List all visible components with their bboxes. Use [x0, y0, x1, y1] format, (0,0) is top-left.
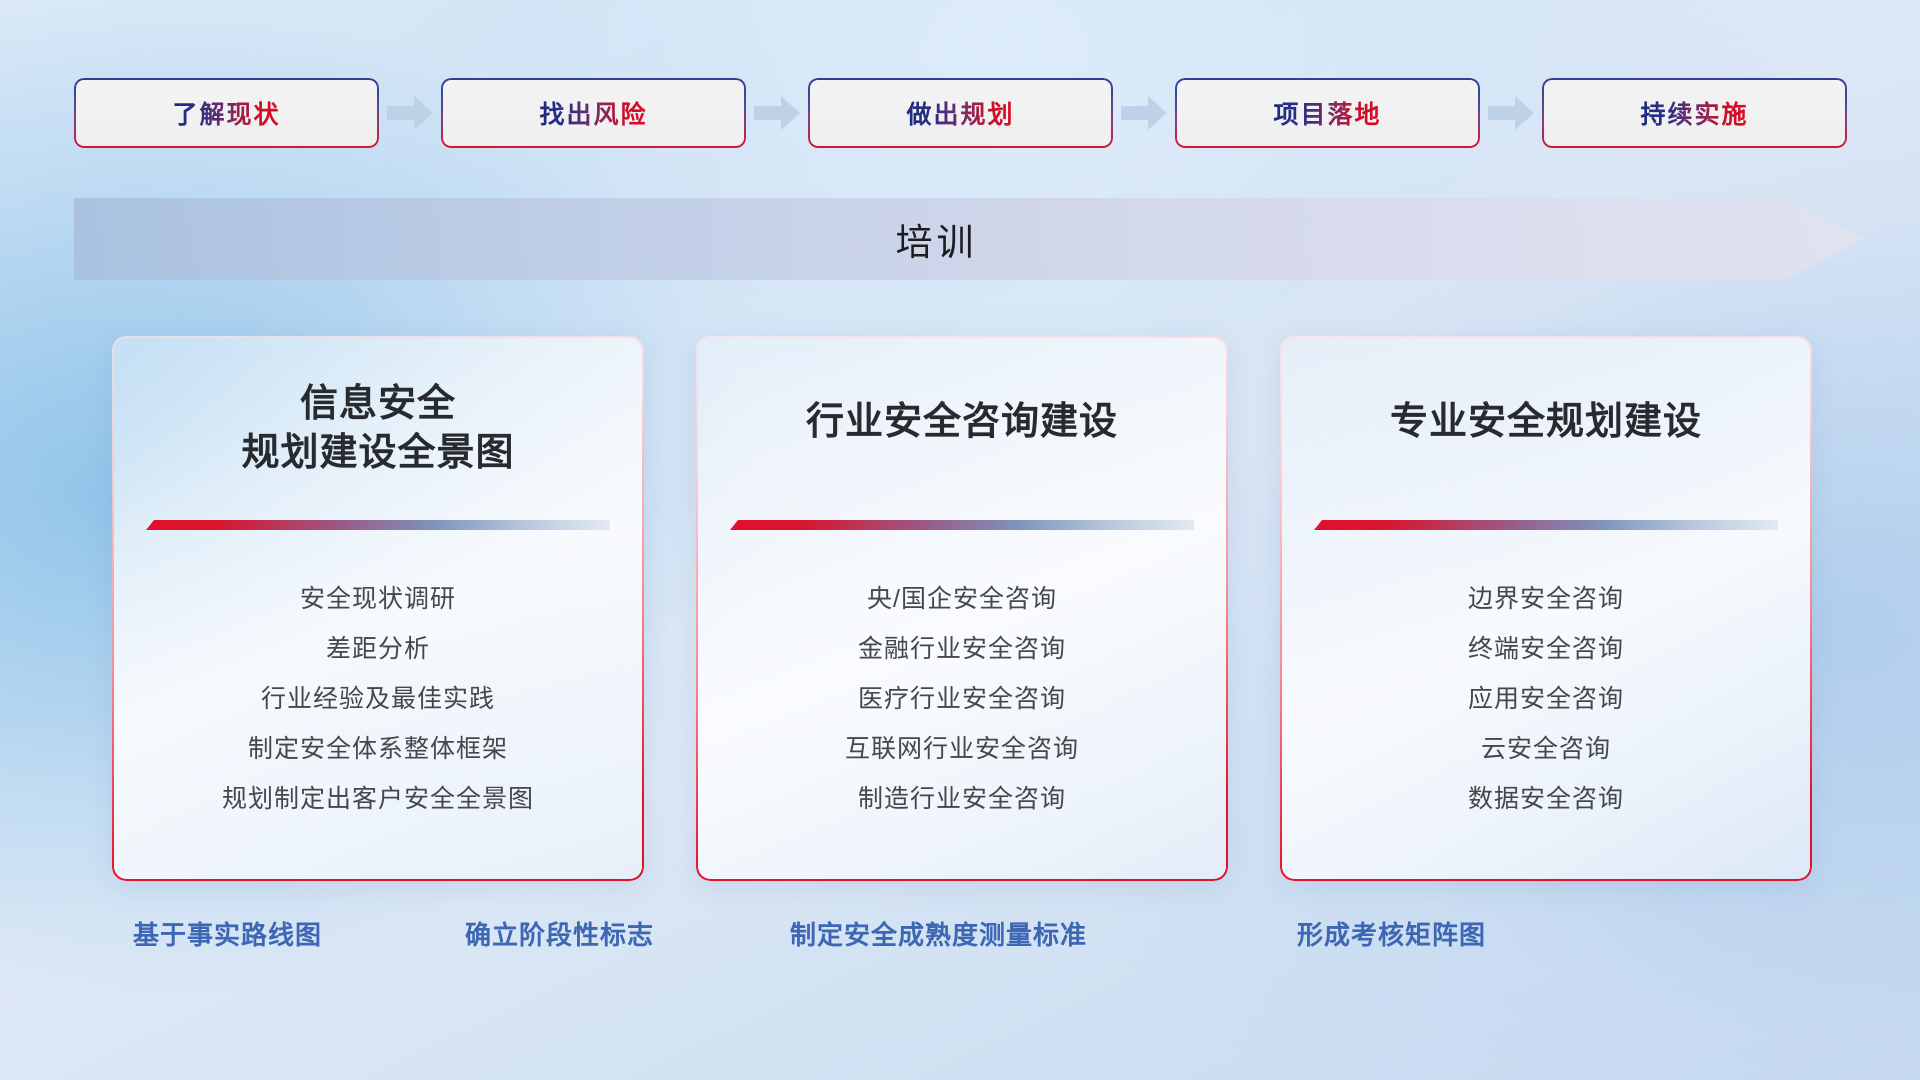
arrow-right-icon — [1480, 78, 1542, 148]
card-divider — [1314, 520, 1778, 533]
list-item: 行业经验及最佳实践 — [261, 674, 495, 724]
arrow-right-icon — [379, 78, 441, 148]
card-title-line: 规划建设全景图 — [241, 429, 514, 478]
caption-row: 基于事实路线图 确立阶段性标志 制定安全成熟度测量标准 形成考核矩阵图 — [0, 915, 1920, 965]
flow-step-label: 项目落地 — [1273, 95, 1381, 131]
caption-1: 确立阶段性标志 — [465, 915, 654, 952]
card-information-security-blueprint[interactable]: 信息安全 规划建设全景图 — [112, 336, 644, 881]
card-title-line: 行业安全咨询建设 — [806, 398, 1118, 447]
card-item-list: 安全现状调研 差距分析 行业经验及最佳实践 制定安全体系整体框架 规划制定出客户… — [112, 574, 644, 824]
card-divider — [730, 520, 1194, 533]
card-title-line: 信息安全 — [241, 380, 514, 429]
arrow-right-icon — [1113, 78, 1175, 148]
card-item-list: 边界安全咨询 终端安全咨询 应用安全咨询 云安全咨询 数据安全咨询 — [1280, 574, 1812, 824]
list-item: 应用安全咨询 — [1468, 674, 1624, 724]
list-item: 医疗行业安全咨询 — [858, 674, 1066, 724]
card-professional-security-planning[interactable]: 专业安全规划建设 — [1280, 336, 1812, 881]
caption-0: 基于事实路线图 — [133, 915, 322, 952]
flow-step-4[interactable]: 持续实施 — [1542, 78, 1847, 148]
list-item: 制定安全体系整体框架 — [248, 724, 508, 774]
card-item-list: 央/国企安全咨询 金融行业安全咨询 医疗行业安全咨询 互联网行业安全咨询 制造行… — [696, 574, 1228, 824]
list-item: 规划制定出客户安全全景图 — [222, 774, 534, 824]
card-title: 专业安全规划建设 — [1390, 398, 1702, 447]
training-banner: 培训 — [74, 198, 1864, 280]
list-item: 云安全咨询 — [1481, 724, 1611, 774]
flow-step-3[interactable]: 项目落地 — [1175, 78, 1480, 148]
list-item: 制造行业安全咨询 — [858, 774, 1066, 824]
card-title: 信息安全 规划建设全景图 — [241, 380, 514, 477]
list-item: 央/国企安全咨询 — [867, 574, 1057, 624]
caption-2: 制定安全成熟度测量标准 — [790, 915, 1087, 952]
card-industry-security-consulting[interactable]: 行业安全咨询建设 — [696, 336, 1228, 881]
flow-step-1[interactable]: 找出风险 — [441, 78, 746, 148]
list-item: 终端安全咨询 — [1468, 624, 1624, 674]
flow-step-0[interactable]: 了解现状 — [74, 78, 379, 148]
list-item: 安全现状调研 — [300, 574, 456, 624]
list-item: 金融行业安全咨询 — [858, 624, 1066, 674]
flow-step-label: 持续实施 — [1640, 95, 1748, 131]
list-item: 数据安全咨询 — [1468, 774, 1624, 824]
arrow-right-icon — [746, 78, 808, 148]
flow-step-label: 了解现状 — [172, 95, 280, 131]
caption-3: 形成考核矩阵图 — [1297, 915, 1486, 952]
process-flow-row: 了解现状 找出风险 做出规划 项目落地 持续实施 — [74, 78, 1846, 148]
card-title: 行业安全咨询建设 — [806, 398, 1118, 447]
flow-step-label: 找出风险 — [539, 95, 647, 131]
card-divider — [146, 520, 610, 533]
card-title-line: 专业安全规划建设 — [1390, 398, 1702, 447]
flow-step-2[interactable]: 做出规划 — [808, 78, 1113, 148]
list-item: 边界安全咨询 — [1468, 574, 1624, 624]
list-item: 差距分析 — [326, 624, 430, 674]
cards-row: 信息安全 规划建设全景图 — [112, 336, 1812, 881]
list-item: 互联网行业安全咨询 — [845, 724, 1079, 774]
banner-title: 培训 — [74, 198, 1799, 280]
flow-step-label: 做出规划 — [906, 95, 1014, 131]
